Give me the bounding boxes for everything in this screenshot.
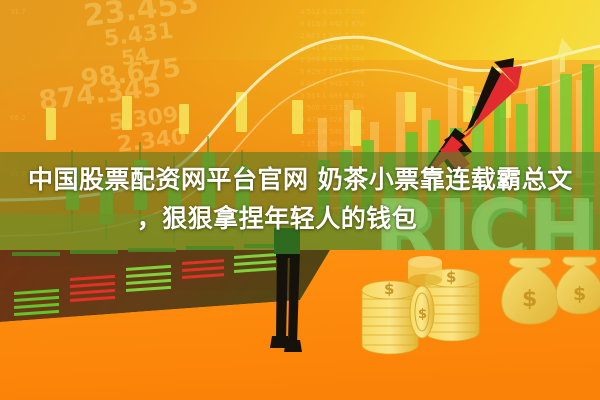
dollar-sign-icon: $ [418,307,427,322]
money-bag-icon: $ [556,257,600,314]
headline-line-1: 中国股票配资网平台官网 奶茶小票靠连载霸总文 [18,160,582,199]
headline-line-2: ，狠狠拿捏年轻人的钱包 [18,199,582,238]
dollar-sign-icon: $ [573,283,586,305]
headline-text: 中国股票配资网平台官网 奶茶小票靠连载霸总文 ，狠狠拿捏年轻人的钱包 [0,160,600,238]
dollar-sign-icon: $ [446,268,456,286]
dollar-sign-icon: $ [384,280,394,298]
dollar-sign-icon: $ [522,287,537,312]
coin-stack: $ [362,280,418,354]
banner-image: 23.453 5.431 54 98.675 874.345 5.309 2.3… [0,0,600,400]
standing-coin: $ [410,286,434,338]
money-bag-icon: $ [502,258,558,324]
coin-stack [408,256,442,286]
